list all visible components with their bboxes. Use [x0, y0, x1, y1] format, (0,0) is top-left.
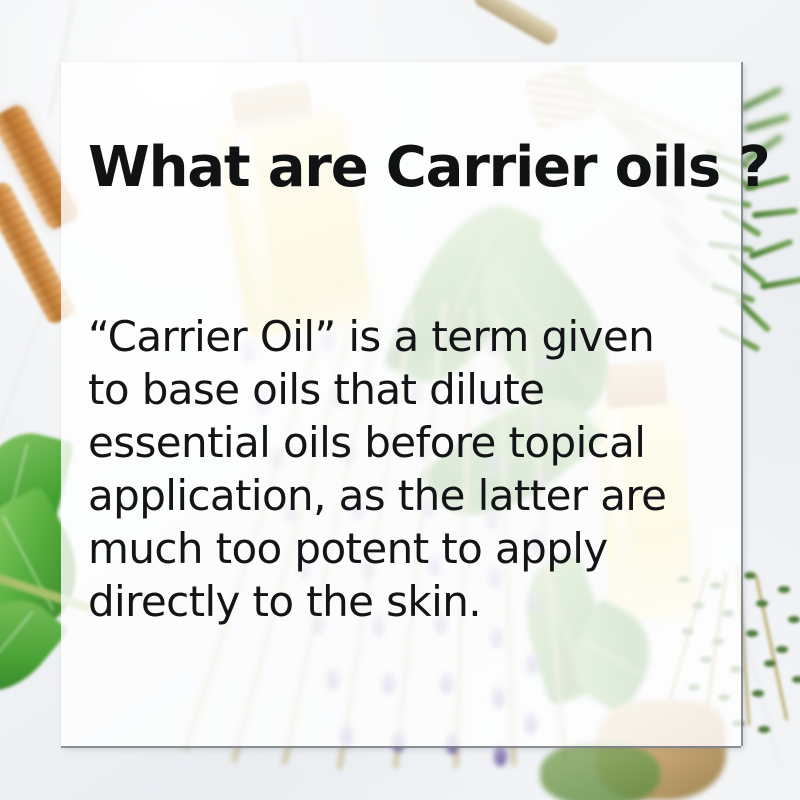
- body-line-2: to base oils that dilute: [88, 363, 720, 416]
- infographic-canvas: What are Carrier oils ? “Carrier Oil” is…: [0, 0, 800, 800]
- body-line-3: essential oils before topical: [88, 416, 720, 469]
- marble-vein: [0, 304, 46, 436]
- body-line-4: application, as the latter are: [88, 469, 720, 522]
- card-content: What are Carrier oils ? “Carrier Oil” is…: [61, 62, 741, 746]
- page-title: What are Carrier oils ?: [88, 140, 770, 196]
- body-line-1: “Carrier Oil” is a term given: [88, 310, 720, 363]
- body-line-5: much too potent to apply: [88, 522, 720, 575]
- twine-icon: [471, 0, 561, 48]
- body-paragraph: “Carrier Oil” is a term given to base oi…: [88, 310, 720, 628]
- body-line-6: directly to the skin.: [88, 575, 720, 628]
- herb-clump-icon: [540, 742, 660, 800]
- white-overlay-panel: What are Carrier oils ? “Carrier Oil” is…: [61, 62, 741, 746]
